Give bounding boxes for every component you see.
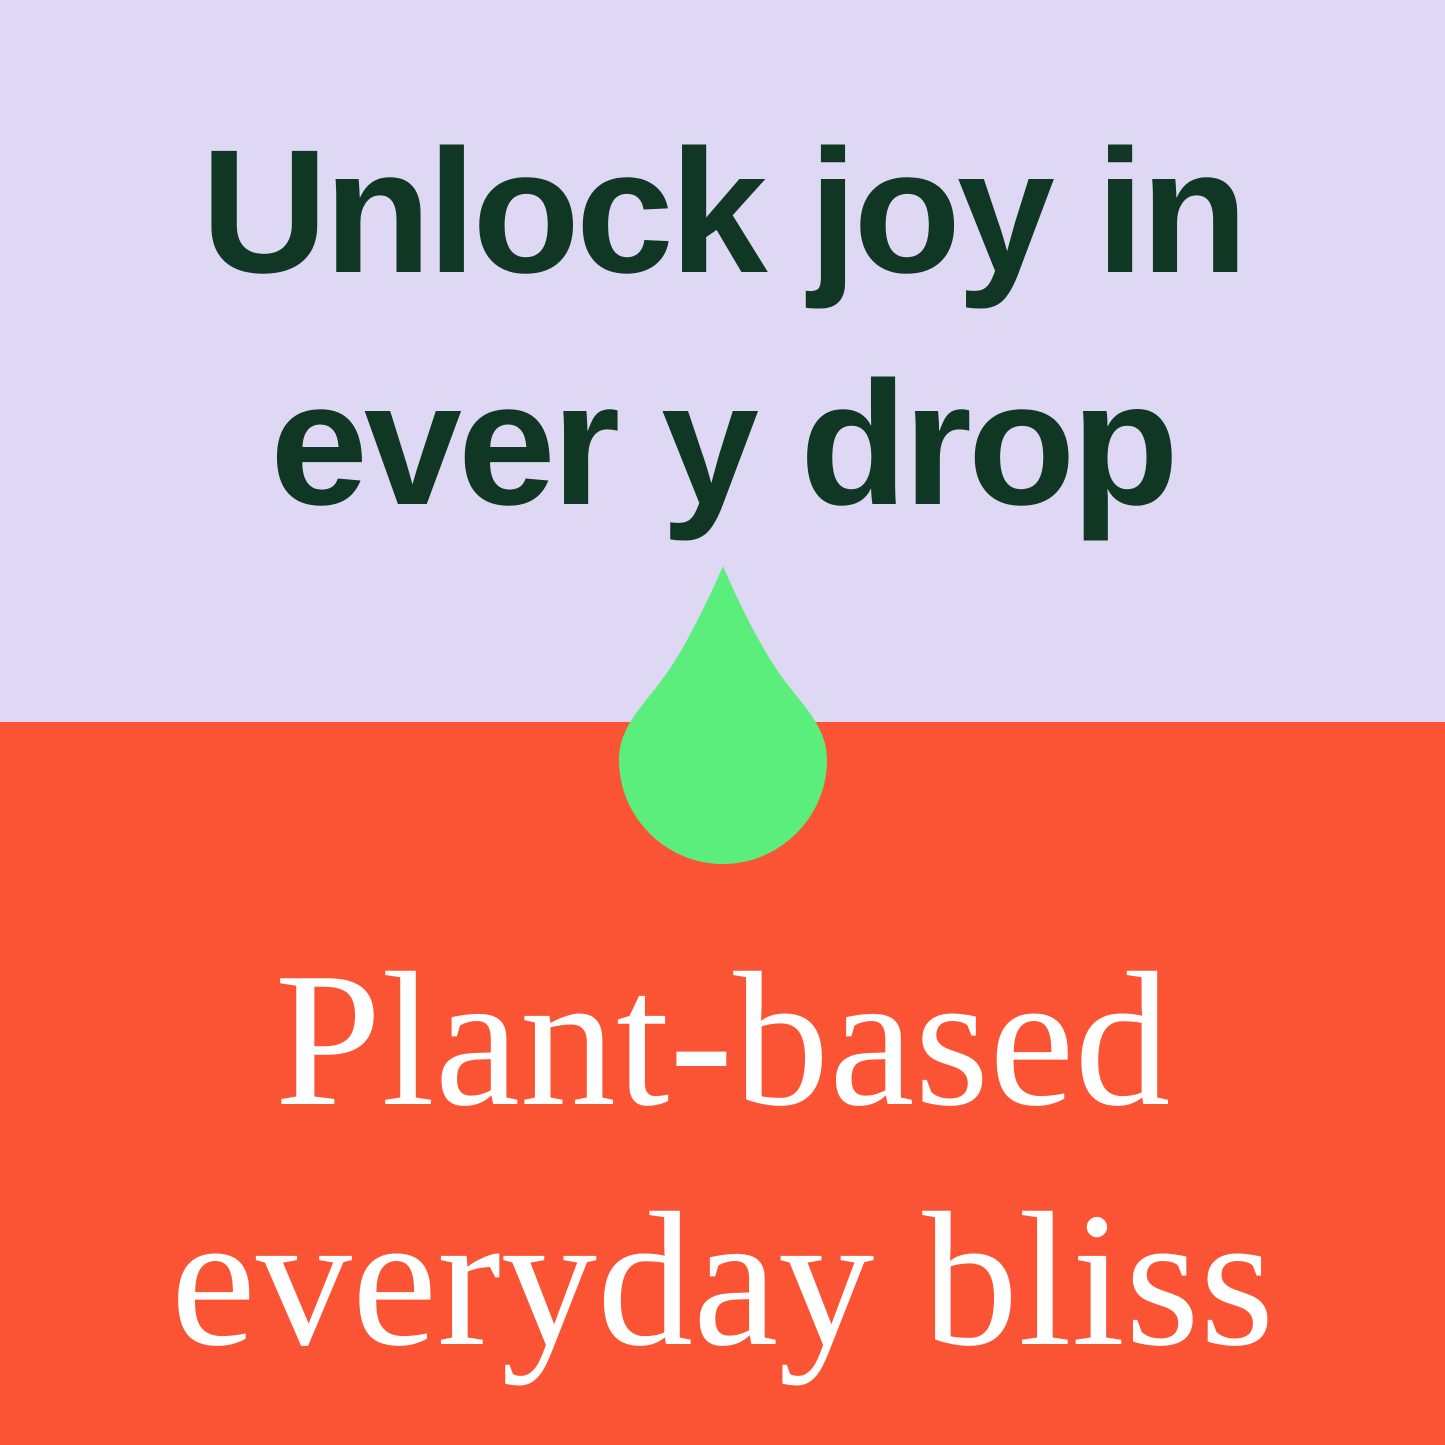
promo-poster: Unlock joy in ever y drop Plant-based ev… [0, 0, 1445, 1445]
water-drop-shape [619, 566, 827, 864]
headline: Unlock joy in ever y drop [0, 96, 1445, 561]
water-drop-icon [619, 566, 827, 864]
subhead: Plant-based everyday bliss [0, 920, 1445, 1400]
